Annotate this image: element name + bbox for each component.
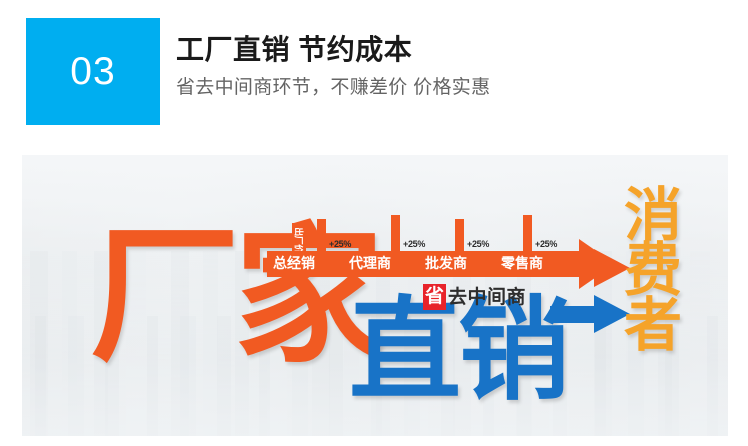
chain-stage-label: 总经销 — [273, 253, 315, 275]
arrow-right-orange-icon — [550, 249, 632, 287]
section-header: 03 工厂直销 节约成本 省去中间商环节，不赚差价 价格实惠 — [0, 0, 748, 150]
chain-increase-label: +25% — [467, 239, 489, 249]
chain-increase-label: +25% — [403, 239, 425, 249]
skip-middleman-callout: 省 去中间商 — [423, 284, 526, 310]
consumer-char: 者 — [624, 298, 682, 353]
skip-middleman-highlight: 省 — [423, 284, 446, 310]
arrow-orange-shaft — [550, 260, 598, 277]
chain-stage-label: 批发商 — [425, 253, 467, 275]
chain-tick — [391, 215, 400, 255]
chain-tick — [523, 215, 532, 255]
infographic-panel: 厂家 直销 出厂价 +25% +25% +25% +25% 总经销 代理商 批发… — [22, 155, 728, 436]
header-text-block: 工厂直销 节约成本 省去中间商环节，不赚差价 价格实惠 — [176, 32, 716, 101]
page-subtitle: 省去中间商环节，不赚差价 价格实惠 — [176, 76, 716, 101]
arrow-blue-shaft — [550, 306, 598, 323]
consumer-headline: 消 费 者 — [624, 188, 682, 353]
chain-stage-label: 代理商 — [349, 253, 391, 275]
section-number-badge: 03 — [26, 18, 160, 125]
consumer-char: 消 — [624, 188, 682, 243]
chain-stage-label: 零售商 — [501, 253, 543, 275]
chain-tick — [455, 219, 464, 255]
chain-increase-label: +25% — [329, 239, 351, 249]
skip-middleman-label: 去中间商 — [448, 288, 526, 307]
arrow-right-blue-icon — [550, 295, 632, 333]
direct-sales-headline: 直销 — [349, 298, 567, 404]
section-number-label: 03 — [70, 52, 115, 91]
consumer-char: 费 — [624, 243, 682, 298]
promo-banner: 03 工厂直销 节约成本 省去中间商环节，不赚差价 价格实惠 厂家 直销 出厂价 — [0, 0, 748, 446]
chain-increase-label: +25% — [535, 239, 557, 249]
chain-tick — [317, 219, 326, 255]
page-title: 工厂直销 节约成本 — [176, 32, 716, 67]
